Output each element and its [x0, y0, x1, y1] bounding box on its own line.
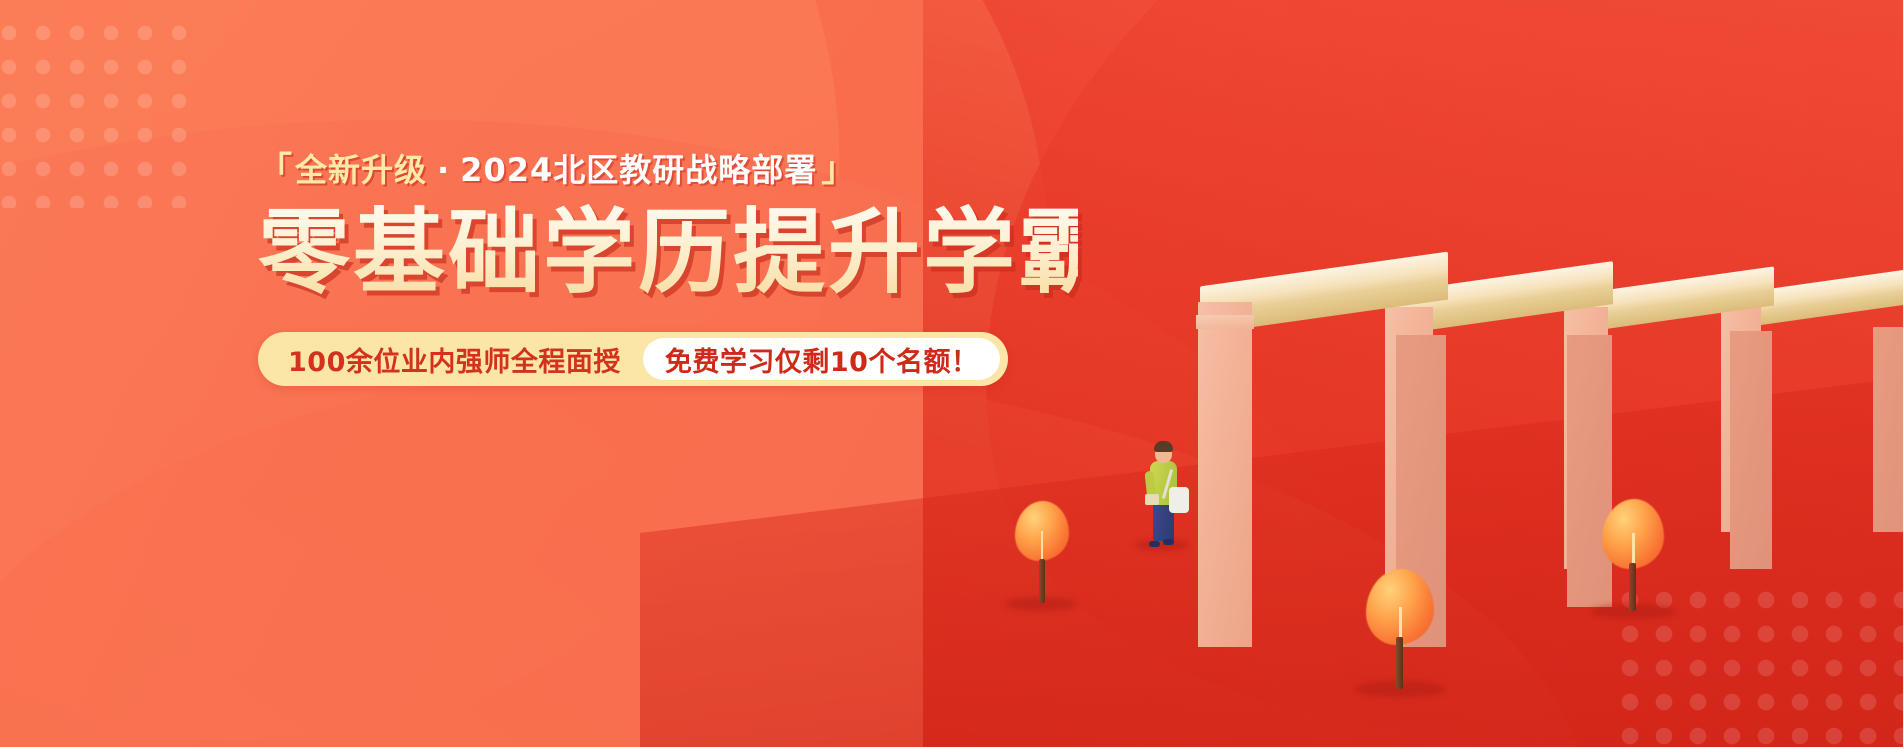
bracket-right-icon: 」 — [821, 150, 856, 191]
promo-banner: 「 全新升级 · 2024北区教研战略部署 」 零基础学历提升学霸班 100余位… — [0, 0, 1903, 747]
tree-2 — [1362, 569, 1438, 695]
promo-pill: 100余位业内强师全程面授 免费学习仅剩10个名额！ — [258, 332, 1008, 386]
promo-pill-highlight: 免费学习仅剩10个名额！ — [643, 338, 1001, 380]
bracket-left-icon: 「 — [258, 150, 293, 191]
eyebrow-separator: · — [427, 151, 460, 189]
eyebrow-line: 「 全新升级 · 2024北区教研战略部署 」 — [258, 150, 1078, 191]
page-title: 零基础学历提升学霸班 — [258, 203, 1078, 302]
tree-1 — [1011, 501, 1073, 609]
student-walking-figure — [1133, 417, 1203, 547]
eyebrow-gold-text: 全新升级 — [295, 151, 427, 189]
promo-pill-label: 100余位业内强师全程面授 — [288, 340, 621, 379]
copy-block: 「 全新升级 · 2024北区教研战略部署 」 零基础学历提升学霸班 100余位… — [258, 150, 1078, 386]
dot-grid-pattern-top-left — [0, 16, 188, 208]
tree-3 — [1598, 499, 1668, 617]
eyebrow-white-text: 2024北区教研战略部署 — [460, 151, 817, 189]
illustration-group — [1063, 0, 1903, 747]
